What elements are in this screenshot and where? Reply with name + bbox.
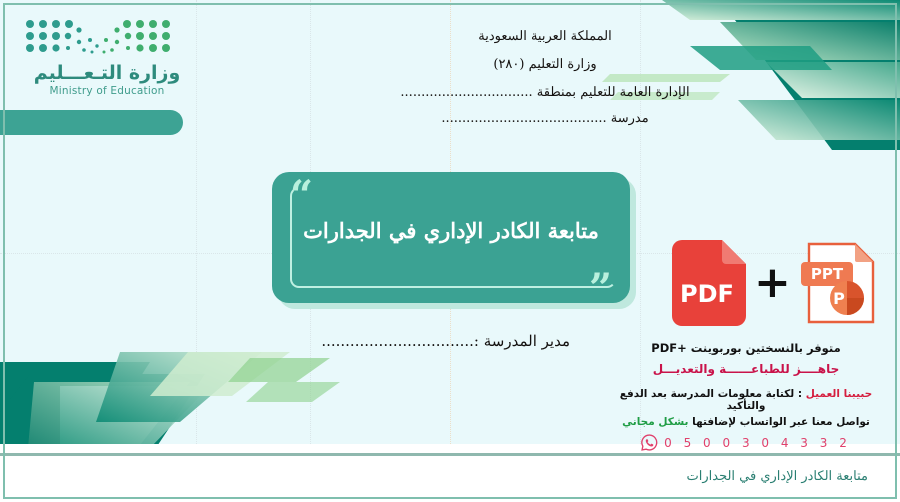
header-line-kingdom: المملكة العربية السعودية: [330, 30, 760, 43]
title-card: “ ” متابعة الكادر الإداري في الجدارات: [272, 172, 630, 303]
footer-divider: [0, 453, 900, 456]
phone-number[interactable]: 0 5 0 0 3 0 4 3 3 2: [664, 436, 851, 450]
header-line-ministry: وزارة التعليم (٢٨٠): [330, 58, 760, 71]
quote-open-icon: “: [290, 176, 313, 216]
file-format-badges: PDF + PPT P: [668, 240, 879, 326]
footer-title: متابعة الكادر الإداري في الجدارات: [687, 469, 868, 484]
promo-customer-note: حبيبنا العميل : لكتابة معلومات المدرسة ب…: [610, 388, 882, 412]
plus-sign: +: [754, 261, 791, 305]
slide-canvas: وزارة التـعـــليم Ministry of Education …: [0, 0, 900, 502]
promo-customer-rest: : لكتابة معلومات المدرسة بعد الدفع والتأ…: [620, 388, 806, 412]
quote-close-icon: ”: [589, 269, 612, 309]
header-line-region: الإدارة العامة للتعليم بمنطقة ..........…: [330, 86, 760, 99]
promo-free-highlight: بشكل مجاني: [622, 416, 688, 428]
promo-contact-text: تواصل معنا عبر الواتساب لإضافتها: [688, 416, 869, 428]
promo-contact-note: تواصل معنا عبر الواتساب لإضافتها بشكل مج…: [610, 416, 882, 428]
page-title: متابعة الكادر الإداري في الجدارات: [272, 218, 630, 243]
promo-block: متوفر بالنسختين بوربوينت +PDF جاهــــز ل…: [610, 341, 882, 451]
ppt-file-icon: PPT P: [799, 240, 879, 326]
ppt-label: PPT: [811, 265, 844, 283]
whatsapp-contact[interactable]: 0 5 0 0 3 0 4 3 3 2: [610, 434, 882, 451]
header-line-school: مدرسة ..................................…: [330, 112, 760, 125]
ppt-p-mark: P: [833, 289, 845, 308]
pdf-file-icon: PDF: [668, 240, 746, 326]
teal-pill-bar: [0, 110, 183, 135]
logo-english-text: Ministry of Education: [22, 85, 192, 97]
promo-ready-to-print: جاهــــز للطباعــــــة والتعديـــل: [610, 362, 882, 376]
saudi-moe-dots-emblem-icon: [22, 18, 174, 60]
principal-signature-line: مدير المدرسة :..........................…: [321, 332, 570, 350]
ministry-logo: وزارة التـعـــليم Ministry of Education: [22, 18, 192, 97]
whatsapp-icon[interactable]: [641, 434, 658, 451]
promo-customer-highlight: حبيبنا العميل: [806, 388, 872, 400]
pdf-label: PDF: [680, 280, 734, 308]
document-header: المملكة العربية السعودية وزارة التعليم (…: [330, 30, 760, 138]
promo-availability: متوفر بالنسختين بوربوينت +PDF: [610, 341, 882, 355]
logo-arabic-text: وزارة التـعـــليم: [22, 62, 192, 84]
